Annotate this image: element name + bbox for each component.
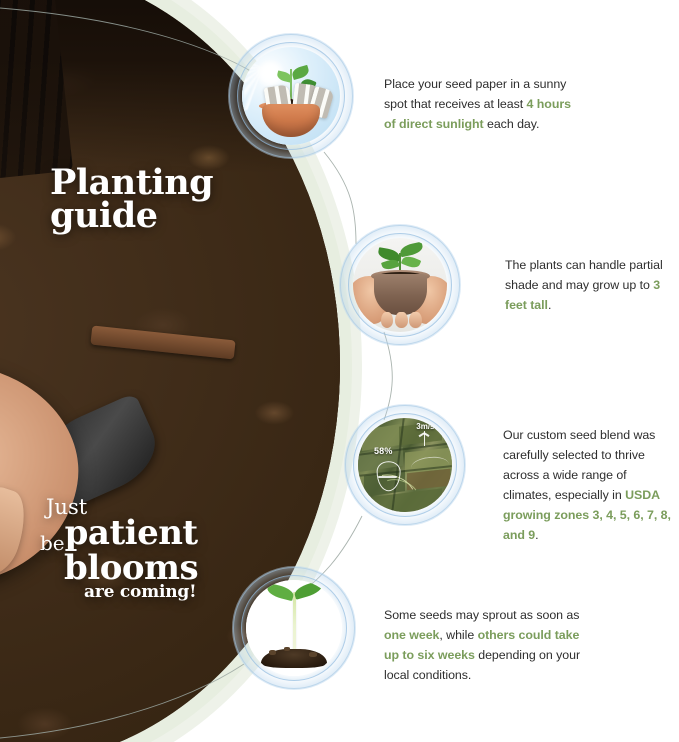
body-text: , while — [439, 628, 477, 642]
hands-holding-potted-seedling-photo — [353, 238, 447, 332]
seed-paper-pot-in-sunlight-photo — [242, 47, 340, 145]
body-text: Some seeds may sprout as soon as — [384, 608, 579, 622]
tagline-line-3: blooms — [40, 553, 250, 584]
step-image-sunlight[interactable] — [228, 33, 354, 159]
tagline-line-2-small: be — [40, 533, 65, 553]
aerial-farmland-data-overlay-photo: 58% 3m/s — [358, 418, 452, 512]
body-text: The plants can handle partial shade and … — [505, 258, 663, 292]
tagline-line-2-big: patient — [65, 518, 198, 549]
body-text: . — [535, 528, 538, 542]
step-image-sprout-time[interactable] — [232, 566, 356, 690]
step-text-sprout-time: Some seeds may sprout as soon as one wee… — [384, 605, 596, 685]
soil-crumb — [269, 650, 276, 655]
wooden-stick-icon — [90, 326, 236, 360]
finger — [0, 481, 35, 583]
hero-tagline: Just bepatient blooms are coming! — [40, 497, 250, 602]
step-image-shade[interactable] — [339, 224, 461, 346]
accent-text: one week — [384, 628, 439, 642]
planting-guide-infographic: Planting guide Just bepatient blooms are… — [0, 0, 679, 742]
soil-crumb — [284, 647, 290, 651]
finger — [409, 312, 421, 328]
step-image-zones[interactable]: 58% 3m/s — [344, 404, 466, 526]
finger — [395, 312, 407, 328]
sprout-in-soil-on-white-photo — [246, 580, 342, 676]
step-text-shade: The plants can handle partial shade and … — [505, 255, 665, 315]
water-level-line — [378, 476, 398, 477]
body-text: each day. — [484, 117, 540, 131]
soil-crumb — [309, 652, 317, 657]
step-text-zones: Our custom seed blend was carefully sele… — [503, 425, 673, 546]
wind-speed-value: 3m/s — [416, 422, 434, 431]
step-text-sunlight: Place your seed paper in a sunny spot th… — [384, 74, 584, 134]
wind-icon — [416, 431, 432, 446]
page-title: Planting guide — [50, 166, 213, 233]
humidity-value: 58% — [374, 446, 393, 456]
body-text: . — [548, 298, 551, 312]
